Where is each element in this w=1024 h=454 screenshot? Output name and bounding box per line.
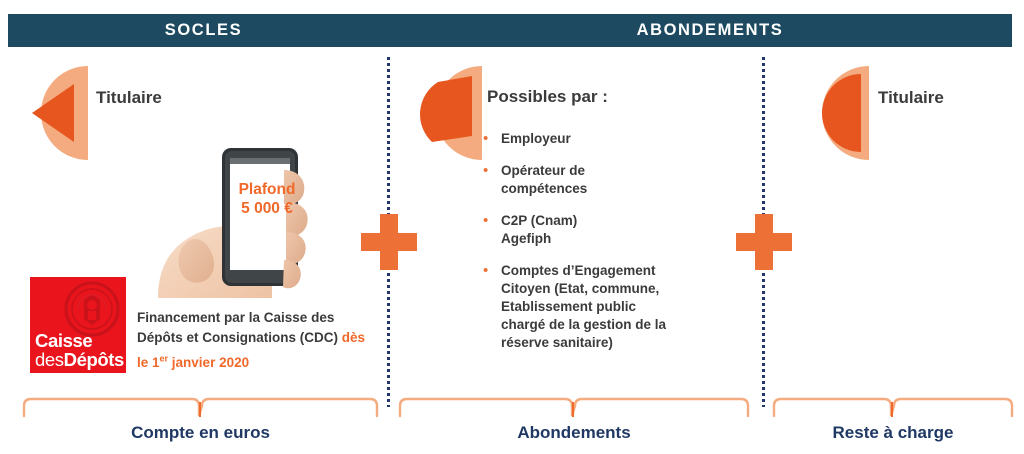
caisse-des-depots-logo: Caisse desDépôts <box>30 277 126 373</box>
brace-label-abondements: Abondements <box>398 423 750 443</box>
cdc-caption-highlight-post: janvier 2020 <box>168 355 249 370</box>
bullet-dot-icon: • <box>483 130 501 148</box>
plus-bar-vertical <box>755 214 773 270</box>
plus-bar-vertical <box>380 214 398 270</box>
diagram-canvas: SOCLES ABONDEMENTS Titulaire <box>0 0 1024 454</box>
cdc-word-line-2-thin: des <box>35 349 64 370</box>
abondements-bullet-list: • Employeur • Opérateur de compétences •… <box>483 130 733 366</box>
quarter-pie-icon <box>14 66 92 160</box>
phone-screen-text: Plafond5 000 € <box>224 180 310 218</box>
brace-label-reste-a-charge: Reste à charge <box>772 423 1014 443</box>
header-label-socles: SOCLES <box>16 14 391 47</box>
cdc-seal-emblem <box>64 281 120 337</box>
hand-holding-phone-illustration: Plafond5 000 € <box>152 140 338 300</box>
list-item: • Employeur <box>483 130 733 148</box>
bullet-dot-icon: • <box>483 262 501 280</box>
bullet-text: Employeur <box>501 130 571 148</box>
cdc-word-line-1: Caisse <box>35 330 92 351</box>
cdc-logo-wordmark: Caisse desDépôts <box>35 331 124 369</box>
bullet-text: C2P (Cnam) Agefiph <box>501 212 577 248</box>
brace-label-compte-en-euros: Compte en euros <box>22 423 379 443</box>
bullet-dot-icon: • <box>483 162 501 180</box>
brace-reste-a-charge <box>772 396 1014 418</box>
bullet-dot-icon: • <box>483 212 501 230</box>
bullet-text: Opérateur de compétences <box>501 162 587 198</box>
cdc-funding-caption: Financement par la Caisse des Dépôts et … <box>137 308 367 373</box>
brace-abondements <box>398 396 750 418</box>
three-quarter-pie-icon <box>408 66 486 160</box>
list-item: • C2P (Cnam) Agefiph <box>483 212 733 248</box>
plus-operator-2 <box>736 214 792 270</box>
plafond-line-1: Plafond <box>239 181 296 198</box>
plus-operator-1 <box>361 214 417 270</box>
header-band: SOCLES ABONDEMENTS <box>8 14 1012 47</box>
full-half-pie-icon <box>795 66 873 160</box>
cdc-caption-plain: Financement par la Caisse des Dépôts et … <box>137 310 342 345</box>
brace-compte-en-euros <box>22 396 379 418</box>
plafond-line-2: 5 000 € <box>241 200 293 217</box>
list-item: • Comptes d’Engagement Citoyen (Etat, co… <box>483 262 733 352</box>
cdc-caption-highlight-sup: er <box>160 353 169 363</box>
titulaire-label-right: Titulaire <box>878 88 944 108</box>
possibles-par-title: Possibles par : <box>487 87 608 107</box>
bullet-text: Comptes d’Engagement Citoyen (Etat, comm… <box>501 262 666 352</box>
list-item: • Opérateur de compétences <box>483 162 733 198</box>
titulaire-label-left: Titulaire <box>96 88 162 108</box>
cdc-word-line-2-bold: Dépôts <box>64 349 124 370</box>
header-label-abondements: ABONDEMENTS <box>391 14 1024 47</box>
